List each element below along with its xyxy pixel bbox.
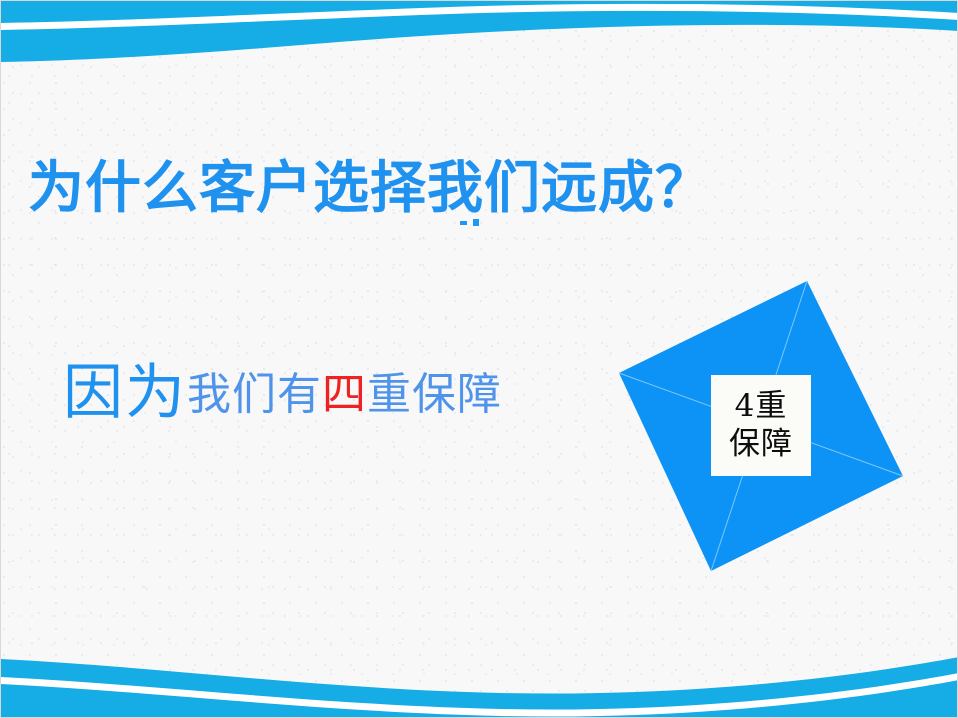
top-wave-white-stripe (1, 4, 958, 30)
subtitle-accent-text: 四 (322, 369, 367, 420)
bottom-wave-band (1, 637, 958, 717)
badge-label-line-2: 保障 (729, 426, 793, 464)
subtitle: 因为我们有四重保障 (63, 363, 502, 423)
bottom-wave-white-stripe (1, 673, 958, 717)
badge-label-box: 4重 保障 (711, 375, 811, 476)
top-wave-band (1, 1, 958, 67)
top-wave-upper-fill (1, 1, 958, 62)
slide-canvas: 为什么客户选择我们远成？ 因为我们有四重保障 4重 保障 (0, 0, 958, 718)
top-wave-lower-fill (1, 12, 958, 39)
badge-label-line-1: 4重 (735, 388, 788, 426)
subtitle-middle-text: 我们有 (187, 369, 322, 420)
subtitle-tail-text: 重保障 (367, 369, 502, 420)
page-title: 为什么客户选择我们远成？ (28, 143, 712, 224)
subtitle-lead-text: 因为 (63, 358, 187, 428)
bottom-wave-fill (1, 657, 958, 717)
